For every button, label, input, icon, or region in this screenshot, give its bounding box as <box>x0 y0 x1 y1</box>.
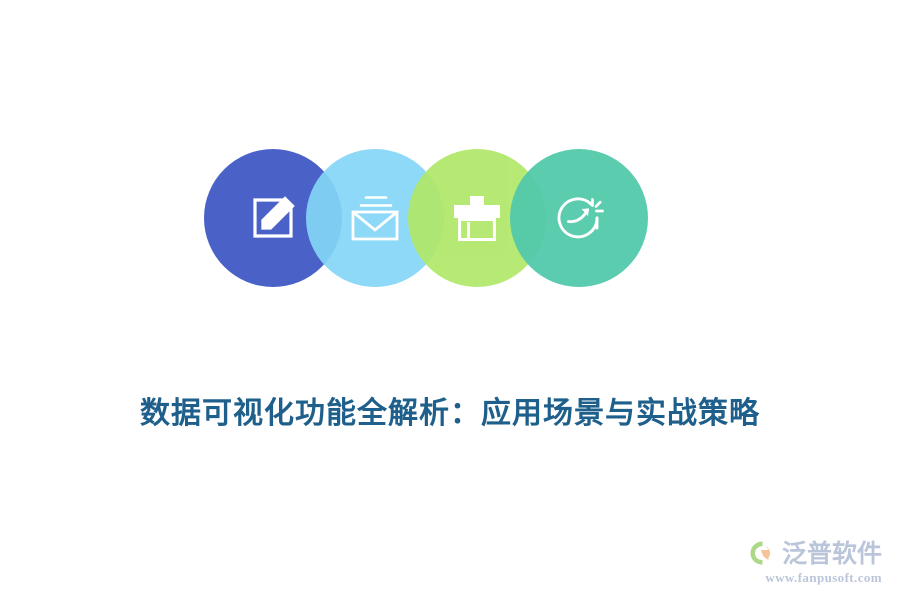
growth-arrow-icon <box>551 190 607 246</box>
watermark-brand-text: 泛普软件 <box>782 541 882 566</box>
watermark-brand-row: 泛普软件 <box>747 538 882 568</box>
envelope-icon <box>346 193 404 243</box>
hero-circles-group <box>204 149 648 287</box>
watermark: 泛普软件 www.fanpusoft.com <box>747 538 882 586</box>
page-title: 数据可视化功能全解析：应用场景与实战策略 <box>0 388 900 432</box>
watermark-url: www.fanpusoft.com <box>765 570 882 586</box>
circle-growth <box>510 149 648 287</box>
fanpu-logo-icon <box>747 538 777 568</box>
page-root: 数据可视化功能全解析：应用场景与实战策略 泛普软件 www.fanpusoft.… <box>0 0 900 600</box>
edit-square-icon <box>246 191 300 245</box>
storefront-icon <box>449 192 505 244</box>
